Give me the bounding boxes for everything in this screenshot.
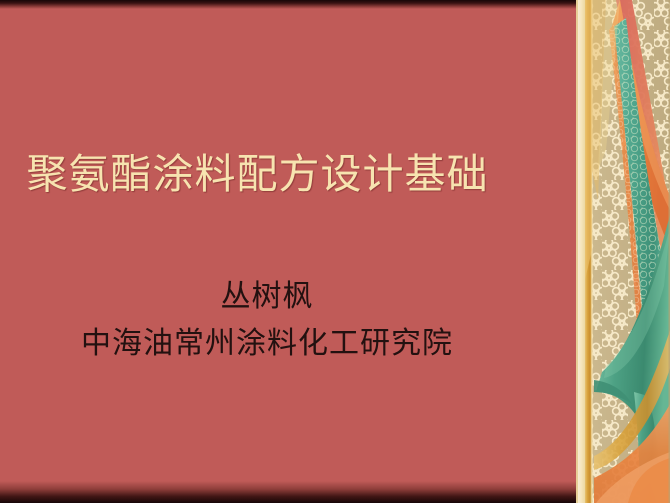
organization-name: 中海油常州涂料化工研究院 bbox=[0, 325, 534, 363]
floral-ribbon-graphic bbox=[576, 0, 670, 503]
slide-text-zone: 聚氨酯涂料配方设计基础 丛树枫 中海油常州涂料化工研究院 bbox=[0, 0, 540, 503]
top-edge-shading bbox=[0, 0, 576, 9]
author-name: 丛树枫 bbox=[0, 279, 534, 315]
presentation-slide: 聚氨酯涂料配方设计基础 丛树枫 中海油常州涂料化工研究院 bbox=[0, 0, 670, 503]
decorative-border-panel bbox=[576, 0, 670, 503]
bottom-edge-shading bbox=[0, 481, 576, 503]
page-title: 聚氨酯涂料配方设计基础 bbox=[0, 148, 515, 200]
